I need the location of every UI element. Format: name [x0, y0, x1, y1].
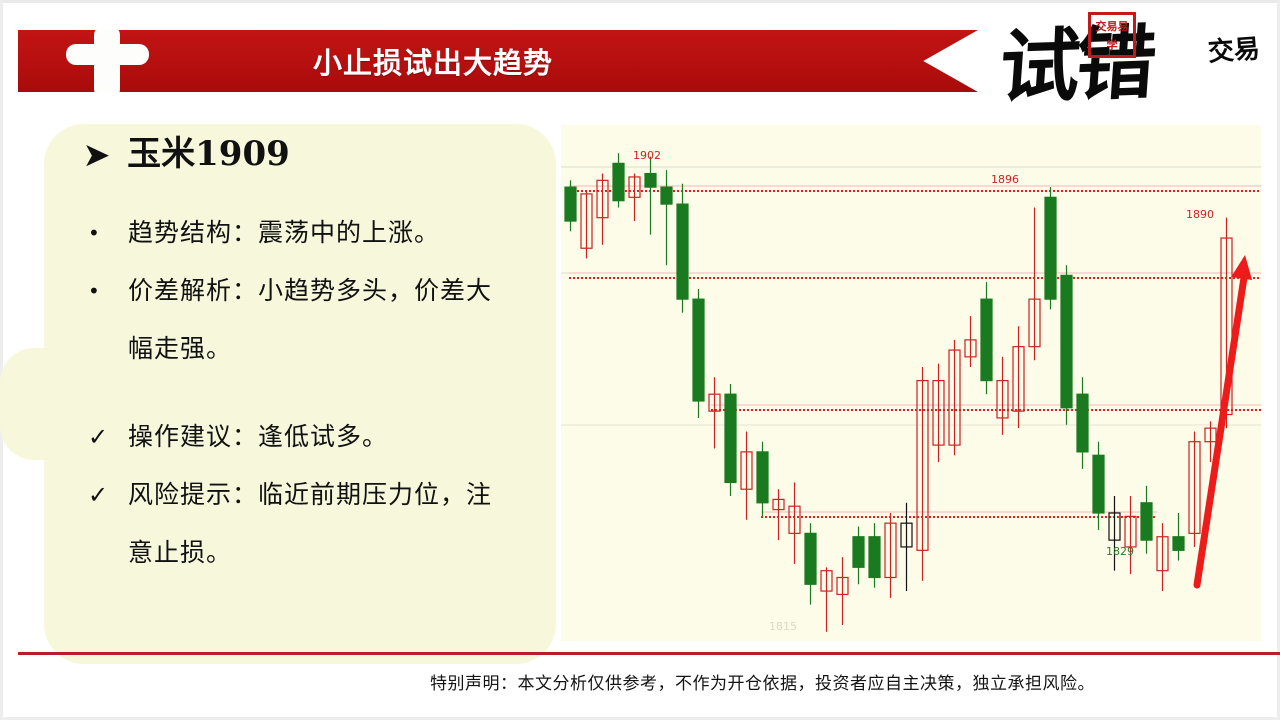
footer-divider — [18, 652, 1280, 655]
candle-body — [565, 187, 576, 221]
list-item-label: 价差解析：小趋势多头，价差大 — [128, 268, 558, 314]
price-label-1829: 1829 — [1106, 545, 1134, 558]
candle-body — [981, 299, 992, 380]
logo-seal-icon: 交易易学 — [1088, 12, 1136, 58]
check-icon: ✓ — [88, 414, 128, 460]
candle-body — [1141, 503, 1152, 540]
candle-body — [645, 174, 656, 188]
list-item-label: 风险提示：临近前期压力位，注 — [128, 472, 558, 518]
candle-body — [1173, 537, 1184, 551]
bullet-list-analysis: • 趋势结构：震荡中的上涨。 • 价差解析：小趋势多头，价差大 幅走强。 — [88, 210, 558, 384]
list-item-label: 趋势结构：震荡中的上涨。 — [128, 210, 558, 256]
content-panel: ➤玉米1909 • 趋势结构：震荡中的上涨。 • 价差解析：小趋势多头，价差大 … — [0, 118, 560, 638]
list-item: • 价差解析：小趋势多头，价差大 — [88, 268, 558, 314]
footer-disclaimer: 特别声明：本文分析仅供参考，不作为开仓依据，投资者应自主决策，独立承担风险。 — [430, 664, 1270, 704]
price-label-1890: 1890 — [1186, 208, 1214, 221]
arrow-marker-icon: ➤ — [84, 138, 109, 173]
candle-body — [725, 394, 736, 482]
price-label-1815: 1815 — [769, 620, 797, 633]
page-title: 小止损试出大趋势 — [18, 30, 848, 92]
list-item-label: 幅走强。 — [128, 326, 558, 372]
candle-body — [677, 204, 688, 299]
list-item: ✓ 风险提示：临近前期压力位，注 — [88, 472, 558, 518]
price-label-1902: 1902 — [633, 149, 661, 162]
list-item: 幅走强。 — [88, 326, 558, 372]
candle-body — [853, 537, 864, 568]
section-heading-text: 玉米1909 — [127, 134, 290, 174]
price-label-1896: 1896 — [991, 173, 1019, 186]
candle-body — [1093, 455, 1104, 513]
header-banner: 小止损试出大趋势 — [18, 30, 978, 92]
list-item: 意止损。 — [88, 530, 558, 576]
slide: 小止损试出大趋势 试错 交易易学 交易 ➤玉米1909 • 趋势结构：震荡中的上… — [0, 0, 1280, 720]
list-item: ✓ 操作建议：逢低试多。 — [88, 414, 558, 460]
candlestick-chart: 19021896189018291815 — [561, 125, 1261, 641]
slide-edge-top — [0, 0, 1280, 3]
candle-body — [613, 163, 624, 200]
uptrend-arrow-head — [1231, 255, 1252, 280]
bullet-list-advice: ✓ 操作建议：逢低试多。 ✓ 风险提示：临近前期压力位，注 意止损。 — [88, 414, 558, 588]
candlestick-chart-svg — [561, 125, 1261, 641]
candle-body — [757, 452, 768, 503]
candle-body — [869, 537, 880, 578]
candle-body — [805, 533, 816, 584]
logo-sub-text: 交易 — [1205, 34, 1263, 68]
candle-body — [1077, 394, 1088, 452]
bullet-dot-icon: • — [88, 268, 128, 314]
list-item-label: 意止损。 — [128, 530, 558, 576]
section-heading: ➤玉米1909 — [84, 126, 290, 175]
candle-body — [1061, 275, 1072, 407]
list-item: • 趋势结构：震荡中的上涨。 — [88, 210, 558, 256]
bullet-dot-icon: • — [88, 210, 128, 256]
candle-body — [1045, 197, 1056, 299]
brand-logo: 试错 交易易学 交易 — [1000, 6, 1262, 124]
candle-body — [693, 299, 704, 401]
list-item-label: 操作建议：逢低试多。 — [128, 414, 558, 460]
candle-body — [661, 187, 672, 204]
check-icon: ✓ — [88, 472, 128, 518]
